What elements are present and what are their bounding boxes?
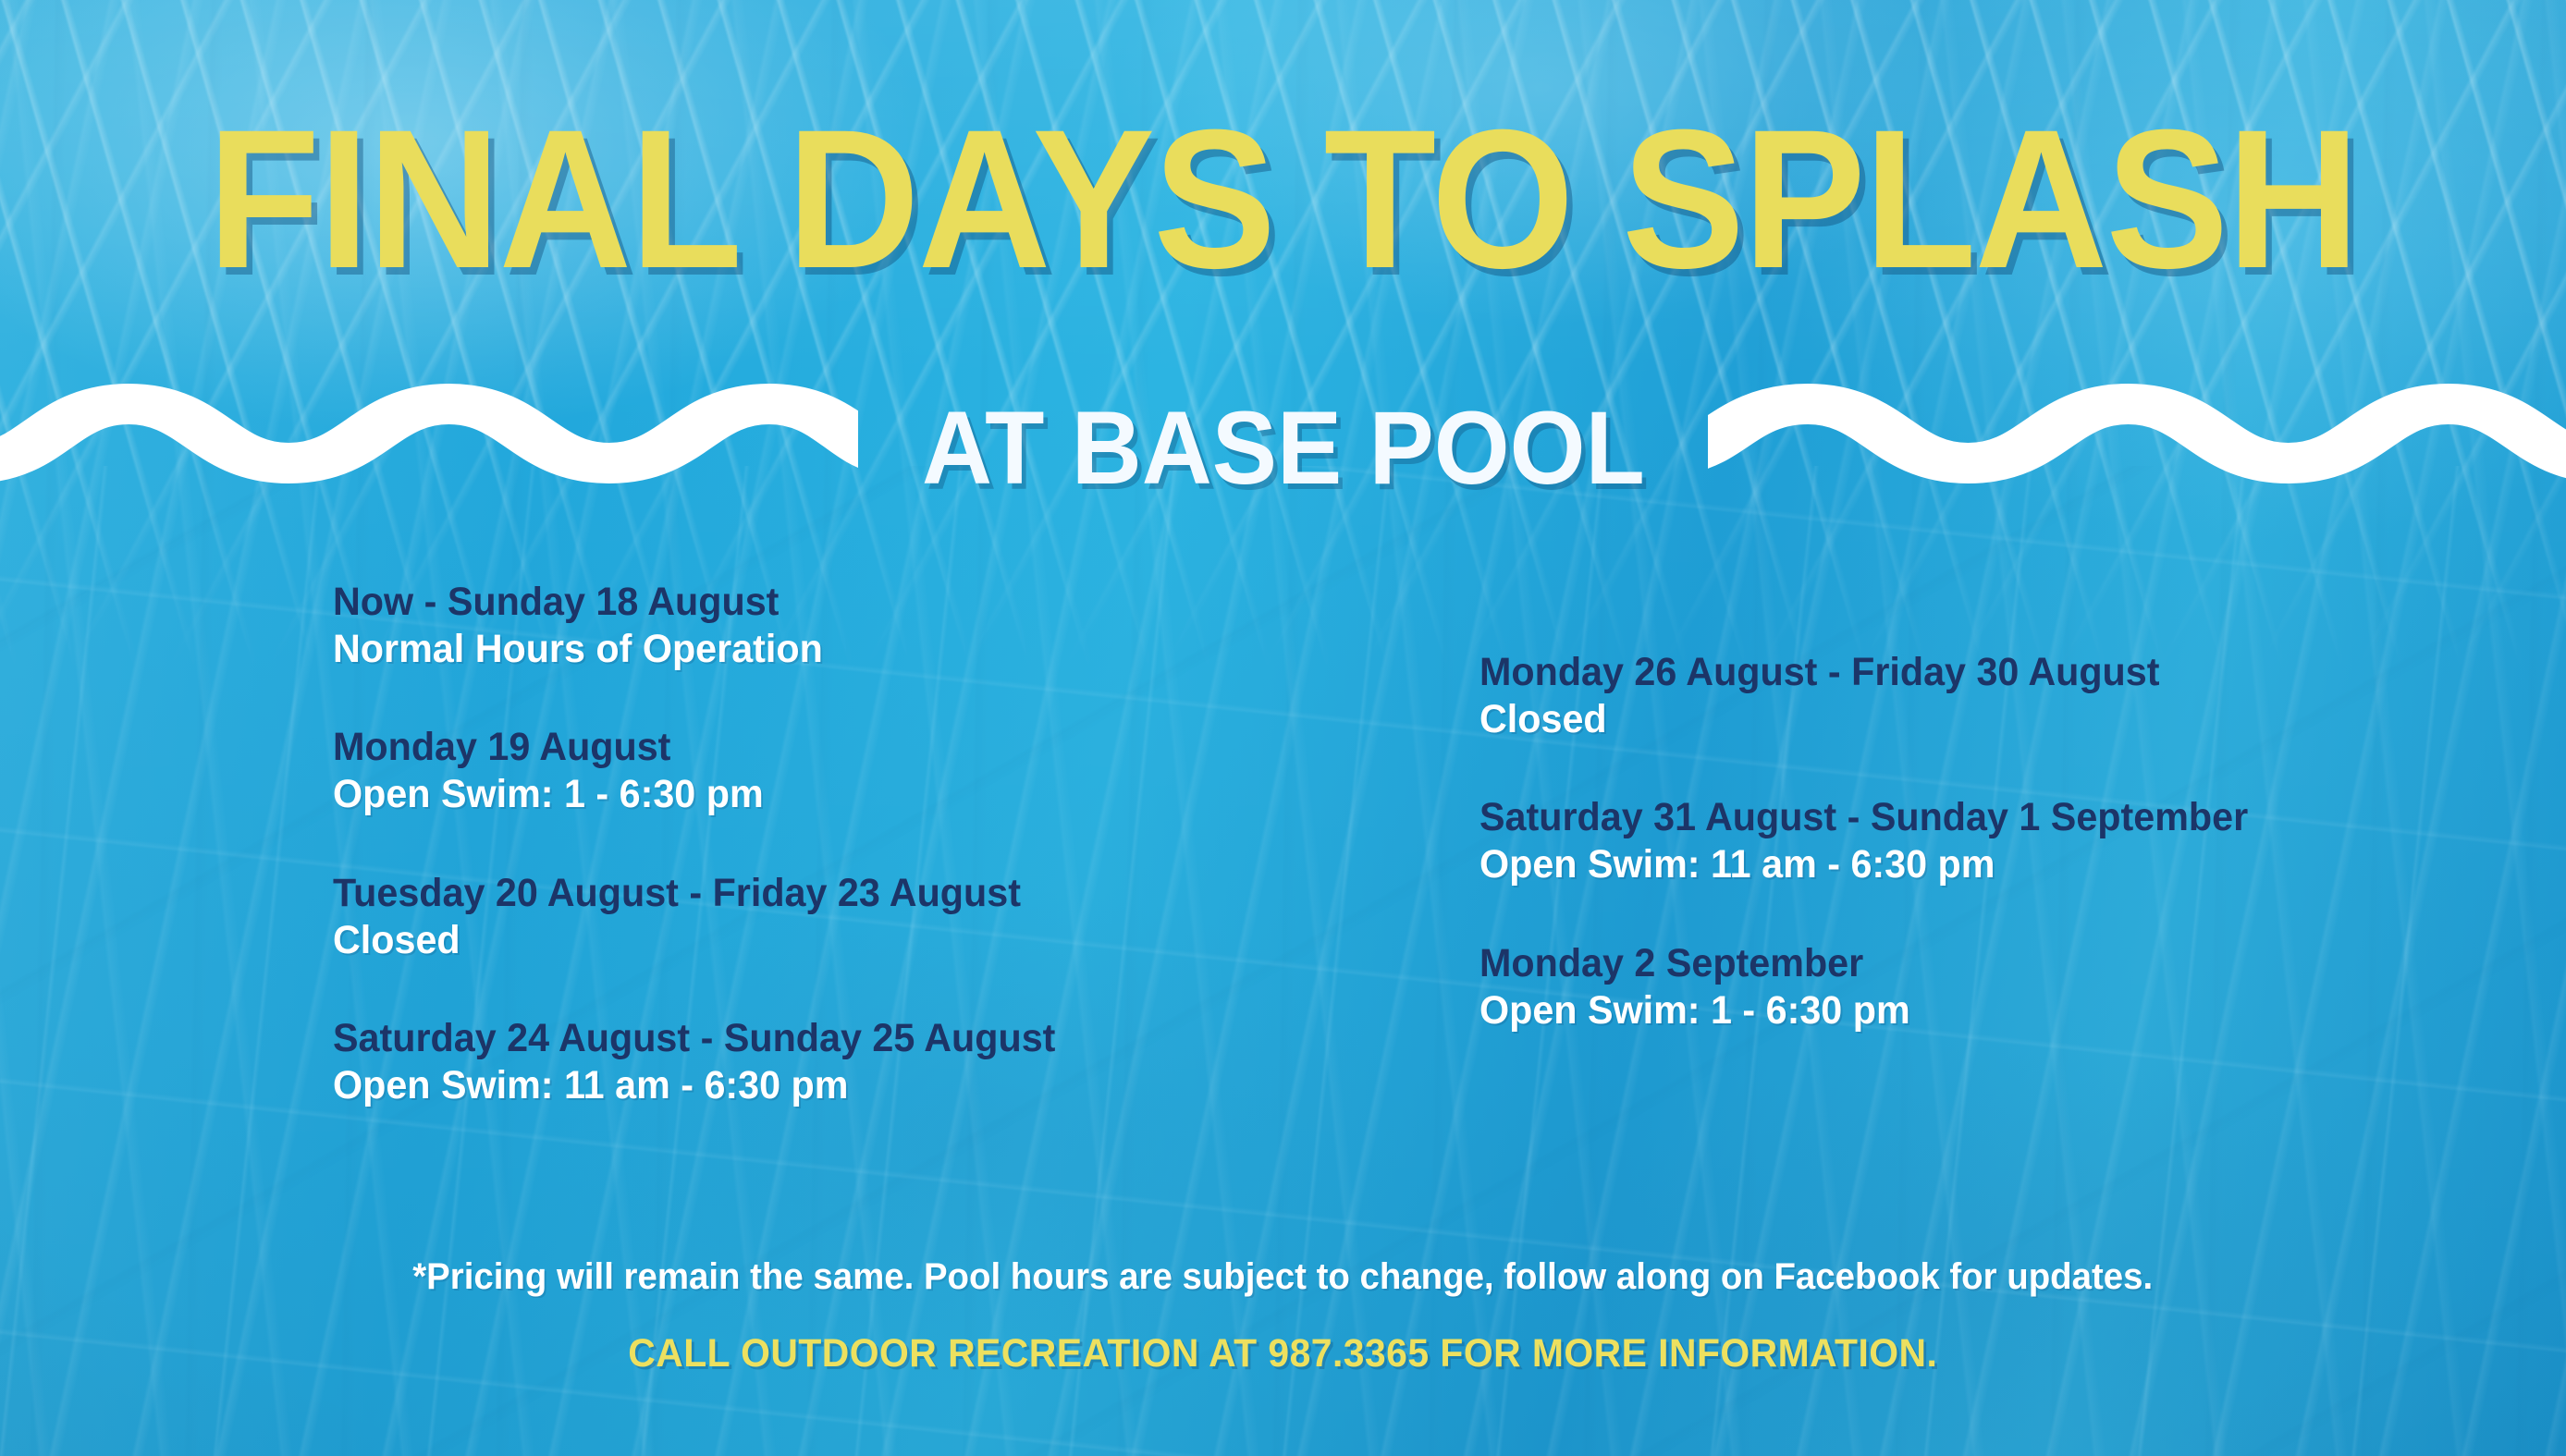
wave-divider-right-icon: [1708, 374, 2566, 522]
subtitle-row: AT BASE POOL: [0, 370, 2566, 527]
schedule-block: Monday 26 August - Friday 30 August Clos…: [1479, 649, 2566, 742]
schedule-column-right: Monday 26 August - Friday 30 August Clos…: [1369, 579, 2566, 1109]
schedule-block: Saturday 24 August - Sunday 25 August Op…: [333, 1015, 1369, 1108]
page-subtitle: AT BASE POOL: [883, 397, 1683, 500]
schedule-detail: Closed: [333, 917, 1327, 964]
schedule-detail: Closed: [1479, 696, 2523, 743]
schedule-detail: Normal Hours of Operation: [333, 626, 1327, 673]
schedule-date: Monday 2 September: [1479, 940, 2523, 987]
footer: *Pricing will remain the same. Pool hour…: [0, 1254, 2566, 1378]
schedule-block: Monday 2 September Open Swim: 1 - 6:30 p…: [1479, 940, 2566, 1034]
headline-container: FINAL DAYS TO SPLASH: [0, 109, 2566, 291]
schedule-columns: Now - Sunday 18 August Normal Hours of O…: [0, 579, 2566, 1109]
schedule-block: Now - Sunday 18 August Normal Hours of O…: [333, 579, 1369, 672]
schedule-date: Monday 26 August - Friday 30 August: [1479, 649, 2523, 696]
schedule-block: Saturday 31 August - Sunday 1 September …: [1479, 794, 2566, 887]
schedule-column-left: Now - Sunday 18 August Normal Hours of O…: [0, 579, 1369, 1109]
schedule-date: Saturday 24 August - Sunday 25 August: [333, 1015, 1327, 1062]
schedule-block: Tuesday 20 August - Friday 23 August Clo…: [333, 870, 1369, 963]
schedule-detail: Open Swim: 11 am - 6:30 pm: [333, 1062, 1327, 1109]
pool-hours-poster: FINAL DAYS TO SPLASH AT BASE POOL Now - …: [0, 0, 2566, 1456]
schedule-detail: Open Swim: 1 - 6:30 pm: [333, 771, 1327, 818]
wave-divider-left-icon: [0, 374, 858, 522]
schedule-date: Saturday 31 August - Sunday 1 September: [1479, 794, 2523, 841]
schedule-date: Tuesday 20 August - Friday 23 August: [333, 870, 1327, 917]
page-title: FINAL DAYS TO SPLASH: [208, 109, 2359, 291]
schedule-date: Now - Sunday 18 August: [333, 579, 1327, 626]
footer-call-to-action: CALL OUTDOOR RECREATION AT 987.3365 FOR …: [628, 1330, 1937, 1378]
schedule-detail: Open Swim: 11 am - 6:30 pm: [1479, 841, 2523, 888]
schedule-date: Monday 19 August: [333, 724, 1327, 771]
footer-disclaimer: *Pricing will remain the same. Pool hour…: [413, 1254, 2154, 1299]
schedule-detail: Open Swim: 1 - 6:30 pm: [1479, 987, 2523, 1034]
schedule-block: Monday 19 August Open Swim: 1 - 6:30 pm: [333, 724, 1369, 817]
